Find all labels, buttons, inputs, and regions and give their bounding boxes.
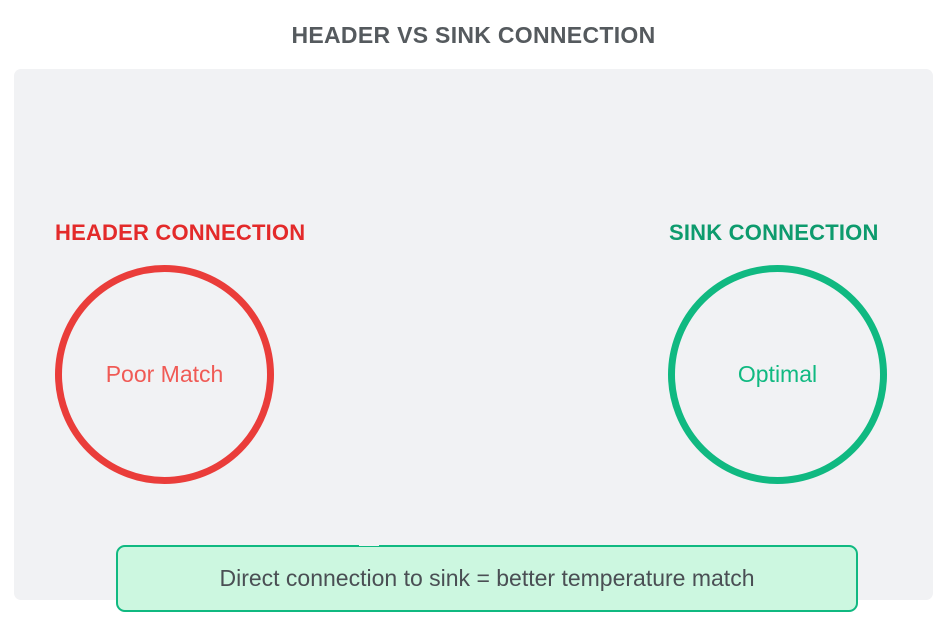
connector-stub xyxy=(359,531,379,546)
header-connection-circle: Poor Match xyxy=(55,265,274,484)
header-connection-circle-label: Poor Match xyxy=(106,363,224,386)
conclusion-banner: Direct connection to sink = better tempe… xyxy=(116,545,858,612)
sink-connection-circle: Optimal xyxy=(668,265,887,484)
right-column-heading: SINK CONNECTION xyxy=(669,220,879,246)
left-column-heading: HEADER CONNECTION xyxy=(55,220,305,246)
diagram-panel: HEADER CONNECTION Poor Match SINK CONNEC… xyxy=(14,69,933,600)
page-title: HEADER VS SINK CONNECTION xyxy=(0,22,947,49)
sink-connection-circle-label: Optimal xyxy=(738,363,817,386)
conclusion-banner-text: Direct connection to sink = better tempe… xyxy=(219,567,754,590)
